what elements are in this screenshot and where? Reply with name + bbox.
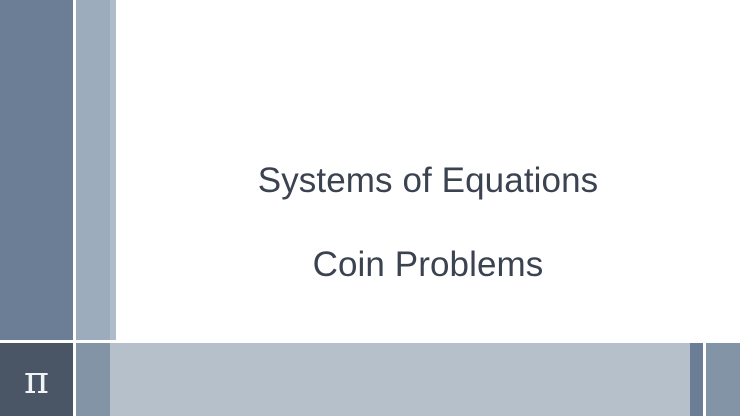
slide-title-line-1: Systems of Equations	[116, 160, 740, 202]
left-decoration-dark-band	[0, 0, 73, 340]
slide-title: Systems of Equations Coin Problems	[116, 118, 740, 328]
slide-title-line-2: Coin Problems	[116, 244, 740, 286]
left-decoration-mid-band	[76, 0, 110, 340]
slide-footer: π	[0, 343, 740, 416]
footer-right-band	[706, 343, 740, 416]
pi-icon: π	[0, 343, 73, 416]
slide-content-area: Systems of Equations Coin Problems	[116, 0, 740, 340]
footer-accent-band	[690, 343, 703, 416]
footer-mid-band	[76, 343, 110, 416]
title-slide: Systems of Equations Coin Problems π	[0, 0, 740, 416]
footer-light-band	[110, 343, 690, 416]
footer-divider	[0, 340, 740, 343]
